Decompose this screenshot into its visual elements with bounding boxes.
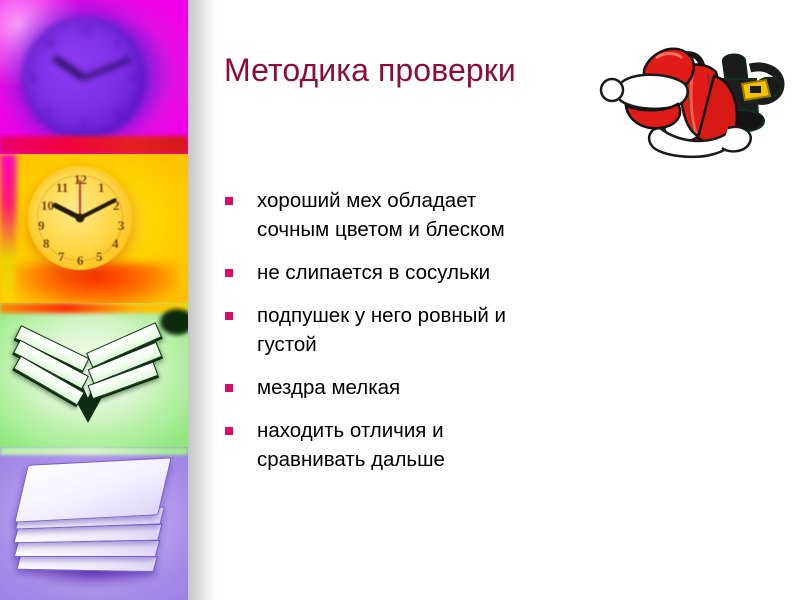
dial-number: 8 — [43, 236, 50, 252]
list-item-label: не слипается в сосульки — [257, 261, 490, 284]
dial-number: 9 — [38, 218, 45, 234]
dial-number: 11 — [56, 180, 68, 196]
dial-number: 4 — [112, 236, 119, 252]
left-image-strip: 12 1 3 5 6 7 9 11 12 1 2 3 — [0, 0, 188, 600]
clock-center-cap — [76, 214, 85, 223]
list-item-label: находить отличия и сравнивать дальше — [257, 419, 445, 471]
folded-cloth-green-panel — [0, 303, 188, 447]
santa-hat-icon — [601, 49, 694, 128]
bullet-square-icon — [225, 427, 233, 435]
bullet-square-icon — [225, 269, 233, 277]
bullet-square-icon — [225, 384, 233, 392]
green-edge-band — [0, 447, 188, 455]
bullet-square-icon — [225, 197, 233, 205]
dial-number: 1 — [98, 180, 105, 196]
dial-number: 11 — [44, 36, 56, 52]
clock-minute-hand — [83, 57, 131, 79]
folded-linen-violet-panel — [0, 447, 188, 600]
clock-magenta-panel: 12 1 3 5 6 7 9 11 — [0, 0, 188, 154]
dial-number: 1 — [114, 36, 121, 52]
red-shadow-glow — [15, 263, 177, 303]
list-item: находить отличия и сравнивать дальше — [222, 416, 552, 474]
dial-number: 5 — [96, 249, 103, 265]
list-item: не слипается в сосульки — [222, 258, 552, 287]
santa-costume-clipart — [590, 24, 795, 164]
yellow-clock-face-icon: 12 1 2 3 4 5 6 7 8 9 10 11 — [28, 166, 132, 270]
dial-number: 6 — [77, 253, 84, 269]
list-item-label: подпушек у него ровный и густой — [257, 304, 506, 356]
dial-number: 5 — [114, 104, 121, 120]
dial-number: 7 — [58, 249, 65, 265]
clock-hour-hand — [52, 55, 85, 80]
dial-number: 3 — [129, 70, 136, 86]
bullet-square-icon — [225, 312, 233, 320]
clock-yellow-panel: 12 1 2 3 4 5 6 7 8 9 10 11 — [0, 154, 188, 303]
orange-edge-band — [0, 303, 188, 313]
dial-number: 7 — [46, 104, 53, 120]
presentation-slide: 12 1 3 5 6 7 9 11 12 1 2 3 — [0, 0, 800, 600]
dial-number: 3 — [118, 218, 125, 234]
dark-corner-blob — [160, 309, 188, 335]
dial-number: 9 — [30, 70, 37, 86]
pink-edge-band — [0, 154, 16, 303]
dial-number: 6 — [80, 116, 87, 132]
strip-edge-fade — [188, 0, 218, 600]
dial-number: 12 — [79, 22, 92, 38]
list-item: подпушек у него ровный и густой — [222, 301, 552, 359]
list-item: хороший мех обладает сочным цветом и бле… — [222, 186, 552, 244]
list-item-label: хороший мех обладает сочным цветом и бле… — [257, 189, 505, 241]
list-item-label: мездра мелкая — [257, 376, 400, 399]
red-color-band — [0, 136, 188, 154]
linen-sheet-layer — [14, 457, 172, 522]
blurred-clock-face-icon: 12 1 3 5 6 7 9 11 — [22, 16, 146, 140]
bullet-list: хороший мех обладает сочным цветом и бле… — [222, 186, 552, 488]
list-item: мездра мелкая — [222, 373, 552, 402]
page-title: Методика проверки — [224, 50, 644, 90]
